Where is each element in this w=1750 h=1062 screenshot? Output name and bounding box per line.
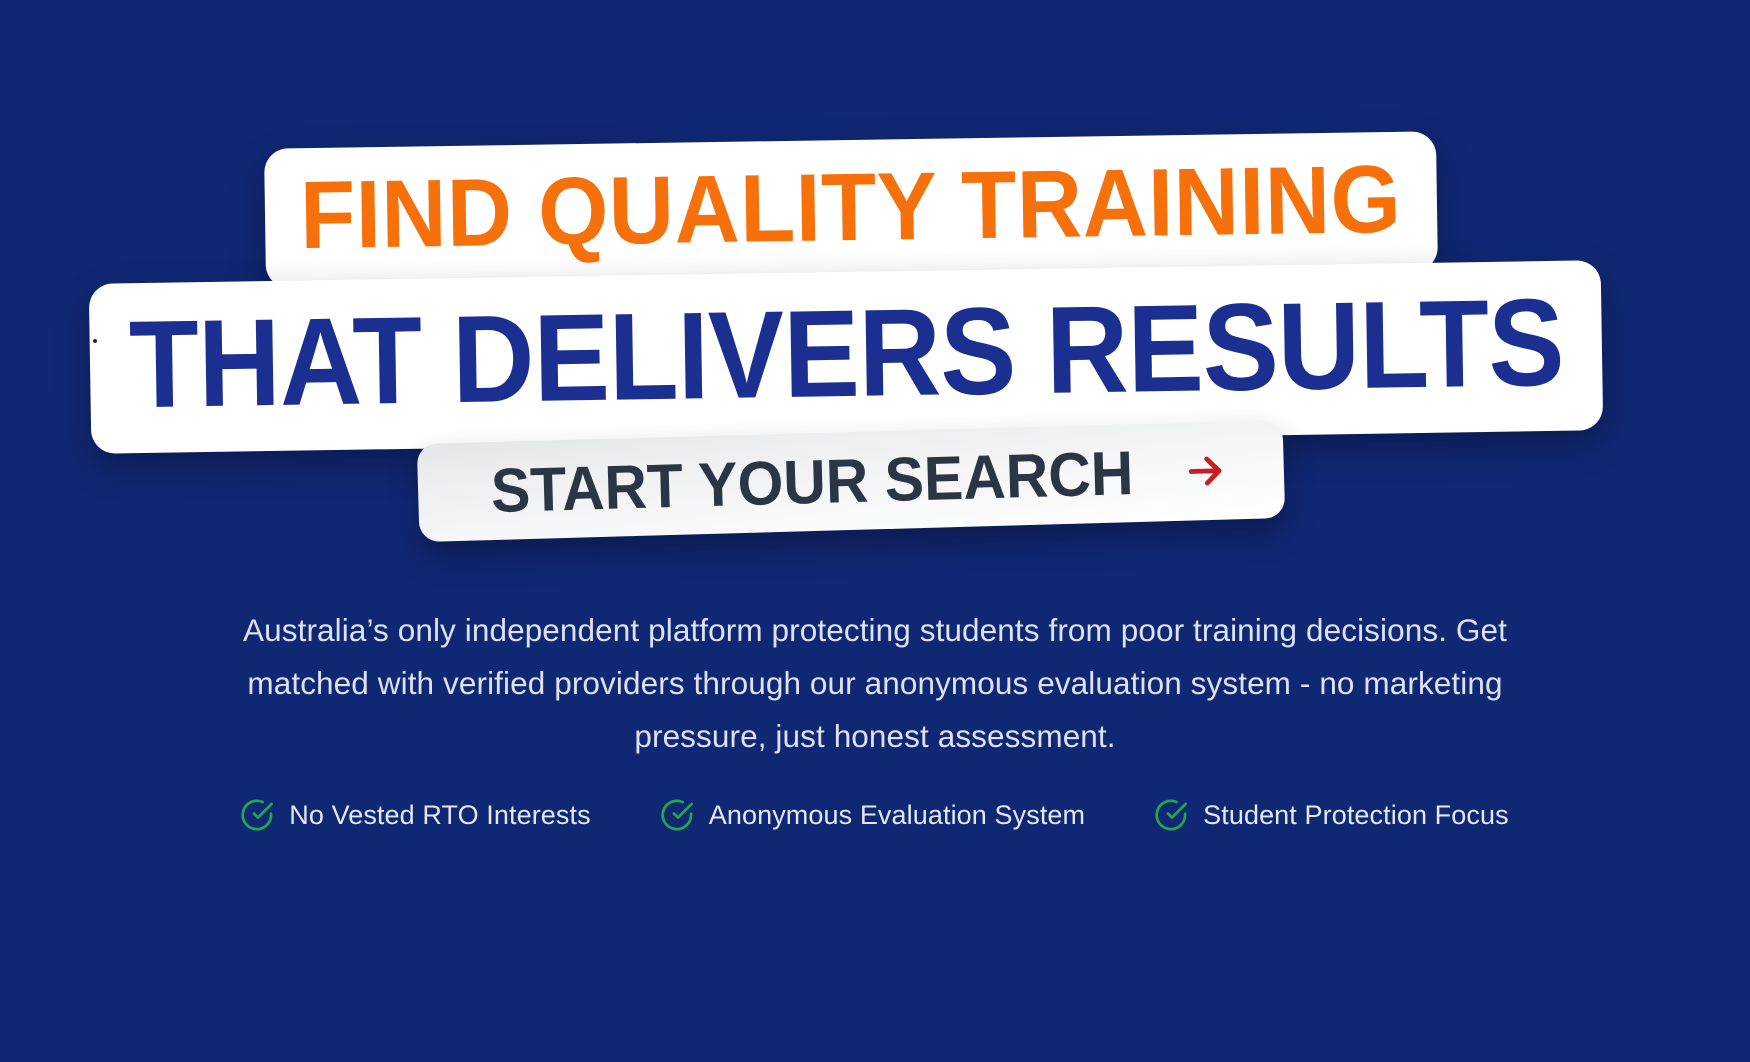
check-circle-icon: [661, 798, 695, 832]
feature-label: Student Protection Focus: [1203, 800, 1509, 831]
check-circle-icon: [1155, 798, 1189, 832]
feature-label: Anonymous Evaluation System: [709, 800, 1085, 831]
headline-line-2: THAT DELIVERS RESULTS: [128, 281, 1564, 428]
hero-description: Australia’s only independent platform pr…: [230, 604, 1520, 763]
hero-section: FIND QUALITY TRAINING THAT DELIVERS RESU…: [0, 0, 1750, 1062]
check-circle-icon: [241, 798, 275, 832]
feature-badges: No Vested RTO Interests Anonymous Evalua…: [225, 798, 1525, 832]
feature-label: No Vested RTO Interests: [289, 800, 590, 831]
headline-line-1: FIND QUALITY TRAINING: [300, 152, 1402, 264]
decorative-speck: [93, 339, 97, 343]
arrow-right-icon: [1183, 448, 1228, 493]
feature-badge-anonymous-evaluation-system: Anonymous Evaluation System: [661, 798, 1085, 832]
feature-badge-no-vested-rto-interests: No Vested RTO Interests: [241, 798, 590, 832]
headline-card-secondary: THAT DELIVERS RESULTS: [89, 260, 1603, 454]
feature-badge-student-protection-focus: Student Protection Focus: [1155, 798, 1509, 832]
cta-label: START YOUR SEARCH: [490, 438, 1134, 527]
